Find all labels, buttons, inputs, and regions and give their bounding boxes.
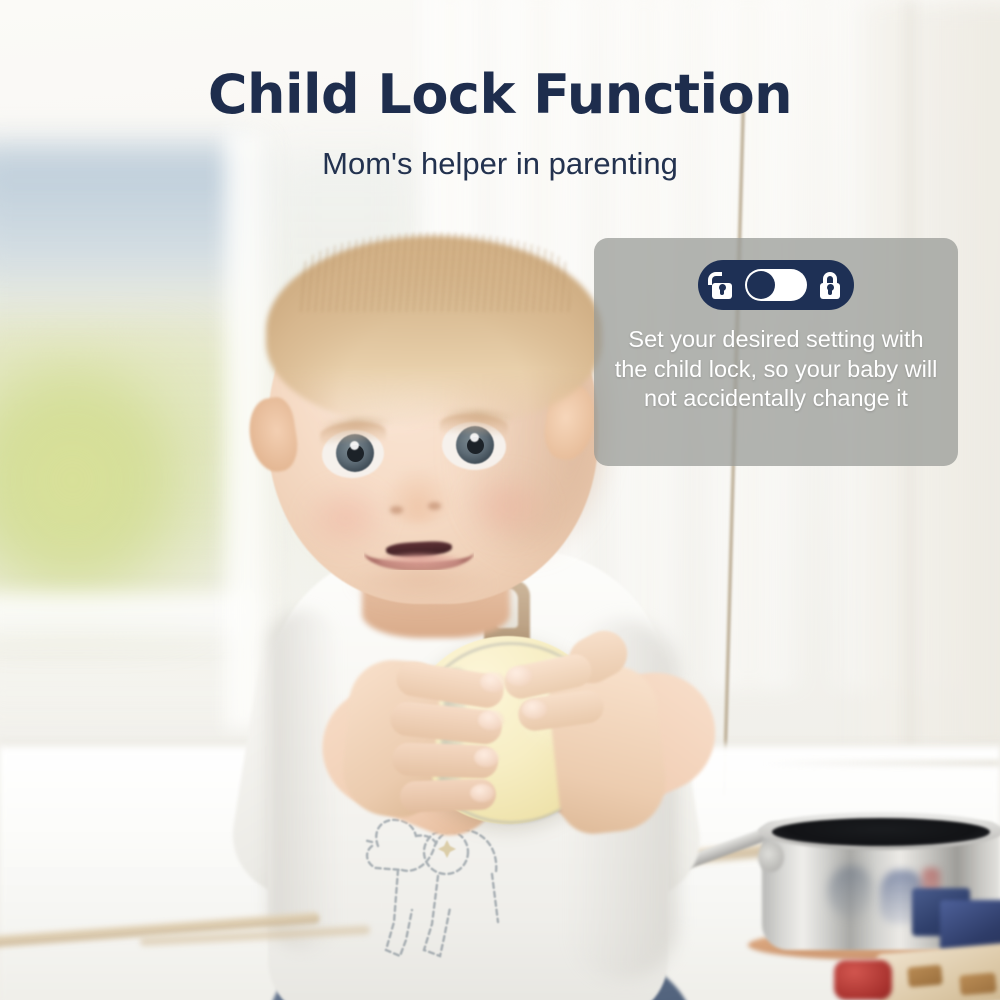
cheek-right: [460, 468, 554, 544]
toggle-switch[interactable]: [745, 269, 807, 301]
nostril-left: [390, 506, 403, 514]
counter-seam: [760, 760, 1000, 766]
shirt-shadow: [268, 610, 338, 950]
nostril-right: [428, 502, 441, 510]
fingernail: [480, 672, 506, 692]
saucepan-reflection: [828, 866, 872, 918]
promo-image: Child Lock Function Mom's helper in pare…: [0, 0, 1000, 1000]
toggle-knob[interactable]: [747, 271, 775, 299]
mouth: [364, 530, 474, 570]
hair-wisps: [300, 232, 570, 312]
chin: [346, 568, 496, 610]
info-card-text: Set your desired setting with the child …: [611, 325, 941, 414]
fingernail: [474, 748, 499, 767]
fingernail: [522, 700, 547, 719]
nose: [382, 466, 454, 524]
red-toy-piece: [834, 960, 892, 1000]
page-title: Child Lock Function: [0, 66, 1000, 123]
page-subtitle: Mom's helper in parenting: [0, 146, 1000, 182]
locked-padlock-icon: [817, 271, 843, 299]
fingernail: [478, 710, 504, 730]
toy-board-slot: [907, 965, 943, 988]
fingernail: [470, 784, 494, 802]
fingernail: [506, 666, 532, 686]
child-lock-toggle[interactable]: [698, 260, 854, 310]
unlocked-padlock-icon: [709, 271, 735, 299]
toy-board-slot: [959, 972, 997, 995]
info-card: Set your desired setting with the child …: [594, 238, 958, 466]
saucepan-interior: [772, 818, 990, 846]
